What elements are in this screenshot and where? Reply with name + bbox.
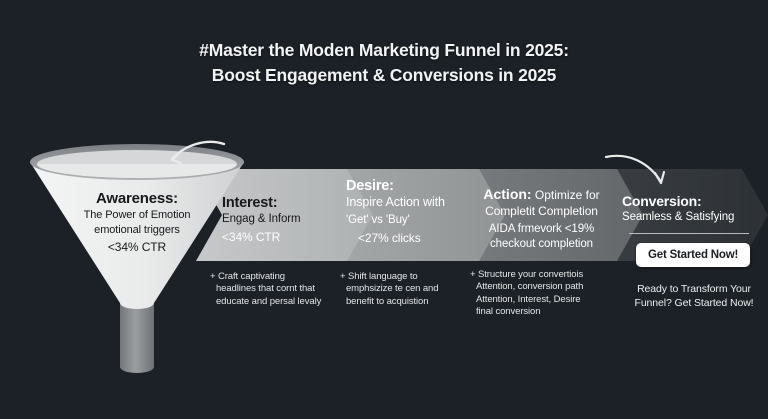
stage-interest-heading: Interest: [222,194,334,212]
infographic-canvas: #Master the Moden Marketing Funnel in 20… [0,0,768,419]
bullet-line: emphsizize te cen and [340,283,470,295]
bullet-line: benefit to acquistion [340,296,470,308]
cta-note-line-1: Ready to Transform Your [620,282,768,296]
stage-conversion-sub1: Seamless & Satisfying [622,210,767,225]
stage-action-metric: checkout completion [474,237,609,252]
stage-conversion-text: Conversion: Seamless & Satisfying [622,192,767,225]
stage-conversion-heading: Conversion: [622,192,767,210]
bullet-line: + Shift language to [340,271,470,283]
stage-desire-metric: <27% clicks [346,230,471,246]
stage-action-sub1: Completit Completion [474,204,609,219]
bullet-line: Attention, Interest, Desire [470,294,620,306]
bullet-line: educate and persal levaly [210,296,345,308]
cta-note: Ready to Transform Your Funnel? Get Star… [620,282,768,310]
stage-awareness-sub1: The Power of Emotion [62,208,212,223]
bullets-action: + Structure your convertiois Attention, … [470,269,620,319]
bullets-desire: + Shift language to emphsizize te cen an… [340,271,470,308]
stage-action-sub2: AIDA frmevork <19% [474,222,609,237]
stage-action-heading-rest: Optimize for [532,188,600,202]
stage-desire-sub2: 'Get' vs 'Buy' [346,213,471,228]
bullets-interest: + Craft captivating headlines that cornt… [210,271,345,308]
stage-action-text: Action: Optimize for Completit Completio… [474,186,609,252]
stage-awareness-sub2: emotional triggers [62,223,212,238]
stage-awareness-metric: <34% CTR [62,239,212,255]
bullet-line: headlines that cornt that [210,283,345,295]
bullet-line: Attention, conversion path [470,281,620,293]
cta-note-line-2: Funnel? Get Started Now! [620,296,768,310]
stage-desire-text: Desire: Inspire Action with 'Get' vs 'Bu… [346,177,471,246]
stage-desire-sub1: Inspire Action with [346,195,471,210]
stage-action-heading-row: Action: Optimize for [474,186,609,204]
stage-action-heading: Action: [483,186,531,202]
stage-desire-heading: Desire: [346,177,471,195]
bullet-line: + Structure your convertiois [470,269,620,281]
stage-interest-sub1: Engag & Inform [222,212,334,227]
stage-interest-metric: <34% CTR [222,229,334,245]
bullet-line: + Craft captivating [210,271,345,283]
stage-awareness-heading: Awareness: [62,190,212,208]
get-started-button[interactable]: Get Started Now! [636,243,750,267]
bullet-line: final conversion [470,306,620,318]
cta-divider [629,233,749,234]
stage-awareness-text: Awareness: The Power of Emotion emotiona… [62,190,212,255]
stage-interest-text: Interest: Engag & Inform <34% CTR [222,194,334,245]
